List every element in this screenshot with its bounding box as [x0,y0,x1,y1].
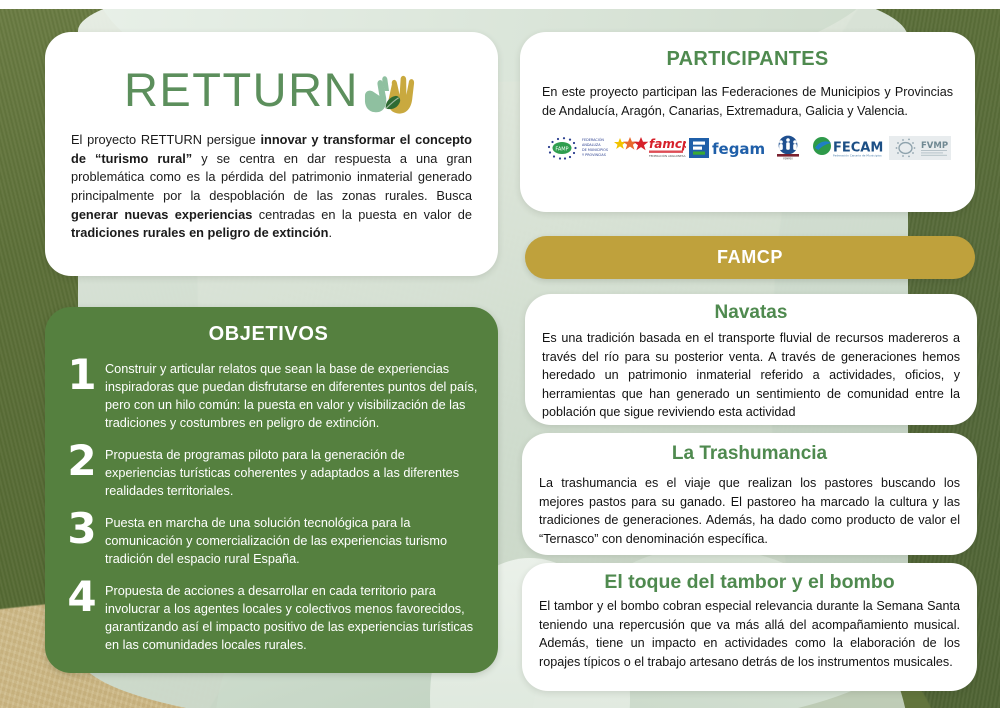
objetivo-item: 1Construir y articular relatos que sean … [59,356,478,432]
objetivo-item: 4Propuesta de acciones a desarrollar en … [59,578,478,654]
objetivos-list: 1Construir y articular relatos que sean … [59,356,478,654]
objetivos-panel: OBJETIVOS 1Construir y articular relatos… [45,307,498,673]
objetivo-item: 3Puesta en marcha de una solución tecnol… [59,510,478,568]
tradition-card-tambor: El toque del tambor y el bombo El tambor… [522,563,977,691]
tradition-card-trashumancia: La Trashumancia La trashumancia es el vi… [522,433,977,555]
tradition-text: El tambor y el bombo cobran especial rel… [539,597,960,671]
participantes-card: PARTICIPANTES En este proyecto participa… [520,32,975,212]
intro-emphasis: tradiciones rurales en peligro de extinc… [71,225,328,240]
fecam-logo: FECAM Federación Canaria de Municipios [811,135,887,161]
infographic-page: RETTURN El proyecto RETTURN persigue inn… [0,0,1000,708]
objetivo-number: 3 [59,510,105,549]
objetivo-text: Puesta en marcha de una solución tecnoló… [105,510,478,568]
famcp-logo: famcp FEDERACIÓN ARAGONESA [612,135,686,161]
retturn-wordmark: RETTURN [124,66,359,113]
objetivo-item: 2Propuesta de programas piloto para la g… [59,442,478,500]
objetivo-text: Propuesta de programas piloto para la ge… [105,442,478,500]
svg-text:fegamp: fegamp [712,140,766,158]
participantes-title: PARTICIPANTES [540,48,955,71]
svg-text:Y PROVINCIAS: Y PROVINCIAS [582,153,606,157]
svg-text:FEDERACIÓN: FEDERACIÓN [582,137,604,142]
objetivo-number: 1 [59,356,105,395]
fegamp-logo: fegamp [688,135,766,161]
two-hands-leaf-icon [361,65,419,117]
famp-logo: FAMP FEDERACIÓNANDALUZA DE MUNICIPIOSY P… [544,135,610,161]
famcp-banner-label: FAMCP [717,247,783,268]
objetivos-title: OBJETIVOS [59,323,478,346]
tradition-text: Es una tradición basada en el transporte… [542,329,960,422]
svg-text:FAMP: FAMP [555,146,568,152]
fvmp-logo: FVMP [889,135,951,161]
svg-text:FVMP: FVMP [921,141,948,151]
svg-text:Federación Canaria de Municipi: Federación Canaria de Municipios [833,153,882,157]
famcp-banner[interactable]: FAMCP [525,236,975,279]
intro-paragraph: El proyecto RETTURN persigue innovar y t… [71,131,472,243]
svg-text:DE MUNICIPIOS: DE MUNICIPIOS [582,148,608,152]
intro-run: . [328,225,332,240]
tradition-text: La trashumancia es el viaje que realizan… [539,474,960,548]
objetivo-number: 4 [59,578,105,617]
intro-card: RETTURN El proyecto RETTURN persigue inn… [45,32,498,276]
svg-text:famcp: famcp [649,137,686,151]
participantes-paragraph: En este proyecto participan las Federaci… [542,83,953,121]
retturn-logo: RETTURN [71,62,472,117]
tradition-title: Navatas [541,302,961,324]
tradition-title: El toque del tambor y el bombo [538,571,961,594]
svg-text:FEDERACIÓN ARAGONESA: FEDERACIÓN ARAGONESA [649,153,686,158]
svg-text:ANDALUZA: ANDALUZA [582,143,601,147]
tradition-title: La Trashumancia [538,443,961,465]
intro-run: El proyecto RETTURN persigue [71,132,260,147]
objetivo-text: Propuesta de acciones a desarrollar en c… [105,578,478,654]
intro-run: centradas en la puesta en valor de [252,207,472,222]
partner-logo-row: FAMP FEDERACIÓNANDALUZA DE MUNICIPIOSY P… [544,135,951,161]
svg-text:FEMPEX: FEMPEX [784,157,794,160]
objetivo-number: 2 [59,442,105,481]
objetivo-text: Construir y articular relatos que sean l… [105,356,478,432]
femp-extremadura-logo: FEMPEX [767,135,809,161]
intro-emphasis: generar nuevas experiencias [71,207,252,222]
tradition-card-navatas: Navatas Es una tradición basada en el tr… [525,294,977,425]
